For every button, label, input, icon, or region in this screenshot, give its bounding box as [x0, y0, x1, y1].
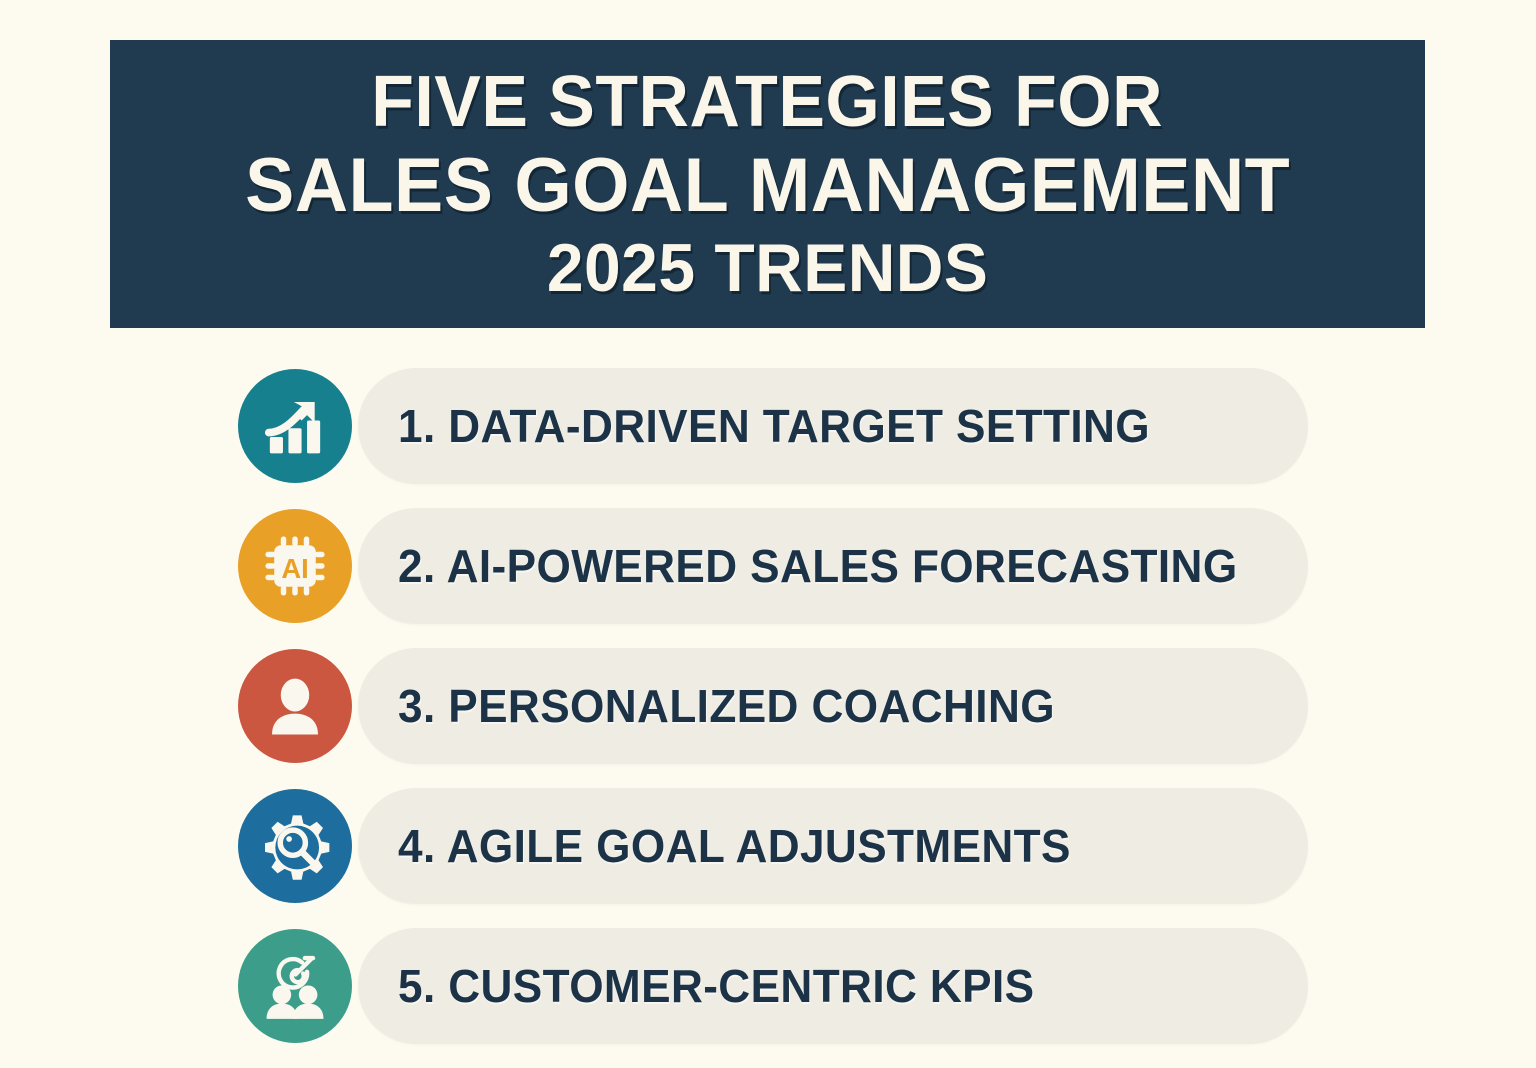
list-item-label: 5. CUSTOMER-CENTRIC KPIs — [398, 928, 1035, 1044]
target-people-icon — [238, 929, 352, 1043]
header-banner: FIVE STRATEGIES FOR SALES GOAL MANAGEMEN… — [110, 40, 1425, 328]
header-title-line-3: 2025 TRENDS — [547, 230, 989, 308]
strategy-list: 1. DATA-DRIVEN TARGET SETTING — [0, 368, 1536, 1068]
bar-chart-growth-icon — [238, 369, 352, 483]
header-title-line-2: SALES GOAL MANAGEMENT — [245, 143, 1290, 230]
list-item-label: 3. PERSONALIZED COACHING — [398, 648, 1055, 764]
ai-chip-icon: AI — [238, 509, 352, 623]
gear-magnifier-icon — [238, 789, 352, 903]
list-item[interactable]: 5. CUSTOMER-CENTRIC KPIs — [0, 928, 1536, 1044]
list-item-label: 4. AGILE GOAL ADJUSTMENTS — [398, 788, 1071, 904]
list-item[interactable]: 1. DATA-DRIVEN TARGET SETTING — [0, 368, 1536, 484]
list-item[interactable]: AI 2. AI-POWERED SALES FORECASTING — [0, 508, 1536, 624]
header-title-line-1: FIVE STRATEGIES FOR — [372, 61, 1164, 143]
list-item-label: 1. DATA-DRIVEN TARGET SETTING — [398, 368, 1150, 484]
list-item-label: 2. AI-POWERED SALES FORECASTING — [398, 508, 1238, 624]
infographic-root: FIVE STRATEGIES FOR SALES GOAL MANAGEMEN… — [0, 0, 1536, 1024]
svg-text:AI: AI — [281, 553, 308, 584]
person-icon — [238, 649, 352, 763]
list-item[interactable]: 4. AGILE GOAL ADJUSTMENTS — [0, 788, 1536, 904]
list-item[interactable]: 3. PERSONALIZED COACHING — [0, 648, 1536, 764]
